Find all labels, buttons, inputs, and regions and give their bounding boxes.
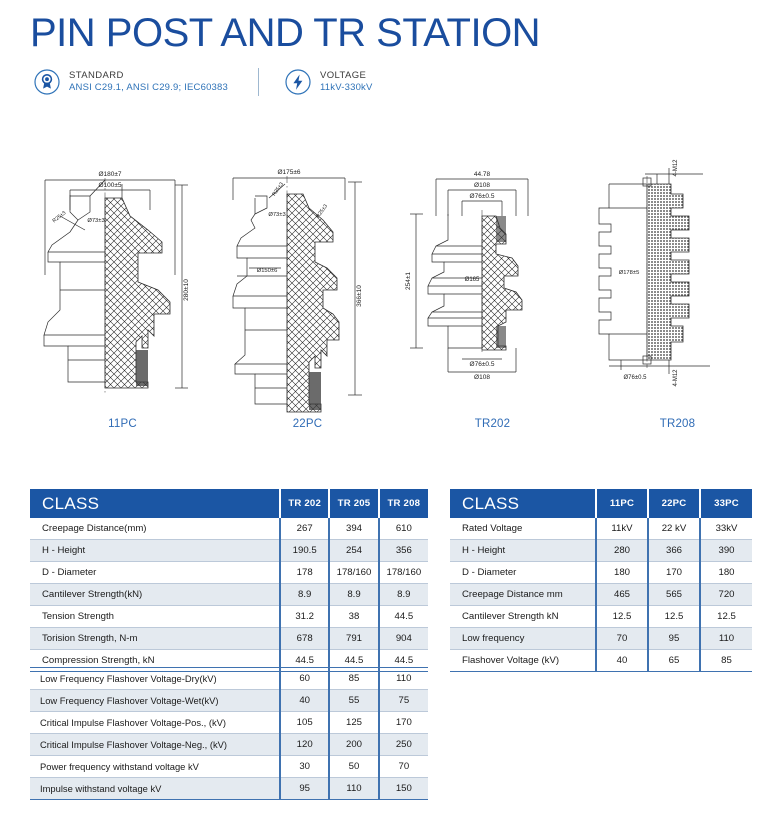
voltage-label: VOLTAGE xyxy=(320,70,373,82)
row-value: 95 xyxy=(280,778,329,800)
row-value: 178/160 xyxy=(329,562,378,584)
row-label: Cantilever Strength(kN) xyxy=(30,584,280,606)
page-title: PIN POST AND TR STATION xyxy=(30,10,752,56)
voltage-spec: VOLTAGE 11kV-330kV xyxy=(285,69,373,95)
svg-text:Ø150±6: Ø150±6 xyxy=(257,268,278,274)
table-row: Impulse withstand voltage kV 95 110 150 xyxy=(30,778,428,800)
page-header: PIN POST AND TR STATION STANDARD ANSI C2… xyxy=(30,10,752,96)
row-value: 65 xyxy=(648,650,700,672)
class-header: CLASS xyxy=(30,489,280,518)
row-label: H - Height xyxy=(450,540,596,562)
table-row: Torision Strength, N-m 678 791 904 xyxy=(30,628,428,650)
product-drawings: Ø180±7 Ø100±5 Ø73±3 R25±3 280±10 11PC xyxy=(30,150,755,450)
row-value: 12.5 xyxy=(648,606,700,628)
class-header: CLASS xyxy=(450,489,596,518)
drawing-22pc: Ø175±6 Ø73±3 Ø150±6 R25±3 R25±3 366±10 2… xyxy=(215,150,400,450)
svg-text:Ø76±0.5: Ø76±0.5 xyxy=(470,361,495,368)
column-header-tr208: TR 208 xyxy=(379,489,428,518)
svg-text:366±10: 366±10 xyxy=(356,285,363,307)
row-label: Creepage Distance(mm) xyxy=(30,518,280,540)
row-value: 390 xyxy=(700,540,752,562)
drawing-caption-tr208: TR208 xyxy=(585,418,770,430)
row-value: 12.5 xyxy=(700,606,752,628)
row-label: Tension Strength xyxy=(30,606,280,628)
table-row: D - Diameter 178 178/160 178/160 xyxy=(30,562,428,584)
row-value: 180 xyxy=(596,562,648,584)
svg-text:Ø178±5: Ø178±5 xyxy=(619,270,640,276)
row-label: H - Height xyxy=(30,540,280,562)
row-value: 40 xyxy=(596,650,648,672)
row-value: 565 xyxy=(648,584,700,606)
row-value: 125 xyxy=(329,712,378,734)
column-header-tr205: TR 205 xyxy=(329,489,378,518)
svg-text:280±10: 280±10 xyxy=(183,279,190,301)
row-value: 200 xyxy=(329,734,378,756)
row-value: 50 xyxy=(329,756,378,778)
drawing-caption-tr202: TR202 xyxy=(400,418,585,430)
row-value: 150 xyxy=(379,778,428,800)
row-label: D - Diameter xyxy=(450,562,596,584)
row-value: 791 xyxy=(329,628,378,650)
drawing-caption-22pc: 22PC xyxy=(215,418,400,430)
row-label: Critical Impulse Flashover Voltage-Neg.,… xyxy=(30,734,280,756)
table-header-row: CLASS 11PC 22PC 33PC xyxy=(450,489,752,518)
row-value: 254 xyxy=(329,540,378,562)
row-value: 720 xyxy=(700,584,752,606)
table-row: Cantilever Strength kN 12.5 12.5 12.5 xyxy=(450,606,752,628)
row-value: 60 xyxy=(280,668,329,690)
row-value: 105 xyxy=(280,712,329,734)
drawing-tr202: 44.78 Ø108 Ø76±0.5 Ø165 254±1 Ø76±0.5 Ø1… xyxy=(400,150,585,450)
row-label: Critical Impulse Flashover Voltage-Pos.,… xyxy=(30,712,280,734)
row-value: 8.9 xyxy=(379,584,428,606)
row-label: Torision Strength, N-m xyxy=(30,628,280,650)
row-value: 178/160 xyxy=(379,562,428,584)
row-value: 12.5 xyxy=(596,606,648,628)
row-value: 180 xyxy=(700,562,752,584)
drawing-tr208: 4-M12 Ø178±5 Ø76±0.5 4-M12 TR208 xyxy=(585,150,770,450)
table-row: Low frequency 70 95 110 xyxy=(450,628,752,650)
datasheet-page: PIN POST AND TR STATION STANDARD ANSI C2… xyxy=(0,0,782,831)
row-value: 170 xyxy=(648,562,700,584)
svg-text:Ø180±7: Ø180±7 xyxy=(98,171,121,178)
standard-spec: STANDARD ANSI C29.1, ANSI C29.9; IEC6038… xyxy=(34,69,228,95)
row-value: 250 xyxy=(379,734,428,756)
row-value: 110 xyxy=(700,628,752,650)
row-label: Rated Voltage xyxy=(450,518,596,540)
column-header-33pc: 33PC xyxy=(700,489,752,518)
flashover-voltage-table: Low Frequency Flashover Voltage-Dry(kV) … xyxy=(30,667,428,800)
table-row: Cantilever Strength(kN) 8.9 8.9 8.9 xyxy=(30,584,428,606)
pin-post-spec-table: CLASS 11PC 22PC 33PC Rated Voltage 11kV … xyxy=(450,489,752,672)
svg-text:254±1: 254±1 xyxy=(405,272,412,290)
row-label: D - Diameter xyxy=(30,562,280,584)
row-value: 110 xyxy=(379,668,428,690)
row-value: 8.9 xyxy=(329,584,378,606)
table-row: H - Height 280 366 390 xyxy=(450,540,752,562)
row-value: 904 xyxy=(379,628,428,650)
row-value: 33kV xyxy=(700,518,752,540)
flashover-table-body: Low Frequency Flashover Voltage-Dry(kV) … xyxy=(30,668,428,800)
row-value: 75 xyxy=(379,690,428,712)
row-value: 22 kV xyxy=(648,518,700,540)
table-row: Creepage Distance(mm) 267 394 610 xyxy=(30,518,428,540)
lightning-bolt-icon xyxy=(285,69,311,95)
column-header-tr202: TR 202 xyxy=(280,489,329,518)
table-row: Critical Impulse Flashover Voltage-Pos.,… xyxy=(30,712,428,734)
svg-text:4-M12: 4-M12 xyxy=(673,159,679,177)
tr-station-table-body: CLASS TR 202 TR 205 TR 208 Creepage Dist… xyxy=(30,489,428,672)
svg-text:Ø108: Ø108 xyxy=(474,374,490,381)
table-row: Rated Voltage 11kV 22 kV 33kV xyxy=(450,518,752,540)
svg-text:R25±3: R25±3 xyxy=(52,210,68,224)
row-label: Impulse withstand voltage kV xyxy=(30,778,280,800)
row-value: 11kV xyxy=(596,518,648,540)
table-row: H - Height 190.5 254 356 xyxy=(30,540,428,562)
row-value: 38 xyxy=(329,606,378,628)
row-value: 70 xyxy=(379,756,428,778)
pin-post-table-body: CLASS 11PC 22PC 33PC Rated Voltage 11kV … xyxy=(450,489,752,672)
column-header-22pc: 22PC xyxy=(648,489,700,518)
row-value: 178 xyxy=(280,562,329,584)
row-value: 30 xyxy=(280,756,329,778)
row-value: 366 xyxy=(648,540,700,562)
row-value: 40 xyxy=(280,690,329,712)
row-value: 44.5 xyxy=(379,606,428,628)
standard-label: STANDARD xyxy=(69,70,228,82)
table-row: Critical Impulse Flashover Voltage-Neg.,… xyxy=(30,734,428,756)
column-header-11pc: 11PC xyxy=(596,489,648,518)
table-row: D - Diameter 180 170 180 xyxy=(450,562,752,584)
svg-text:Ø165: Ø165 xyxy=(465,277,480,283)
row-value: 678 xyxy=(280,628,329,650)
table-header-row: CLASS TR 202 TR 205 TR 208 xyxy=(30,489,428,518)
row-value: 280 xyxy=(596,540,648,562)
row-value: 70 xyxy=(596,628,648,650)
spec-summary-row: STANDARD ANSI C29.1, ANSI C29.9; IEC6038… xyxy=(34,68,752,96)
table-row: Low Frequency Flashover Voltage-Wet(kV) … xyxy=(30,690,428,712)
svg-text:Ø175±6: Ø175±6 xyxy=(277,169,300,176)
row-value: 267 xyxy=(280,518,329,540)
svg-text:Ø76±0.5: Ø76±0.5 xyxy=(470,193,495,200)
drawing-caption-11pc: 11PC xyxy=(30,418,215,430)
row-value: 394 xyxy=(329,518,378,540)
svg-text:Ø100±5: Ø100±5 xyxy=(98,182,121,189)
row-label: Low frequency xyxy=(450,628,596,650)
svg-text:Ø73±3: Ø73±3 xyxy=(87,218,104,224)
row-label: Low Frequency Flashover Voltage-Dry(kV) xyxy=(30,668,280,690)
meta-divider xyxy=(258,68,259,96)
row-label: Cantilever Strength kN xyxy=(450,606,596,628)
row-value: 85 xyxy=(329,668,378,690)
row-value: 465 xyxy=(596,584,648,606)
svg-text:Ø108: Ø108 xyxy=(474,182,490,189)
svg-text:R25±3: R25±3 xyxy=(271,181,285,197)
voltage-value: 11kV-330kV xyxy=(320,82,373,94)
row-value: 110 xyxy=(329,778,378,800)
row-value: 356 xyxy=(379,540,428,562)
row-value: 170 xyxy=(379,712,428,734)
table-row: Creepage Distance mm 465 565 720 xyxy=(450,584,752,606)
row-value: 85 xyxy=(700,650,752,672)
row-value: 95 xyxy=(648,628,700,650)
row-label: Flashover Voltage (kV) xyxy=(450,650,596,672)
svg-text:4-M12: 4-M12 xyxy=(673,369,679,387)
row-label: Creepage Distance mm xyxy=(450,584,596,606)
svg-text:R25±3: R25±3 xyxy=(315,203,329,219)
award-badge-icon xyxy=(34,69,60,95)
row-value: 8.9 xyxy=(280,584,329,606)
drawing-11pc: Ø180±7 Ø100±5 Ø73±3 R25±3 280±10 11PC xyxy=(30,150,215,450)
table-row: Tension Strength 31.2 38 44.5 xyxy=(30,606,428,628)
row-value: 55 xyxy=(329,690,378,712)
standard-value: ANSI C29.1, ANSI C29.9; IEC60383 xyxy=(69,82,228,94)
row-value: 120 xyxy=(280,734,329,756)
row-label: Power frequency withstand voltage kV xyxy=(30,756,280,778)
row-value: 190.5 xyxy=(280,540,329,562)
row-value: 610 xyxy=(379,518,428,540)
tr-station-spec-table: CLASS TR 202 TR 205 TR 208 Creepage Dist… xyxy=(30,489,428,672)
svg-text:Ø73±3: Ø73±3 xyxy=(268,212,285,218)
table-row: Flashover Voltage (kV) 40 65 85 xyxy=(450,650,752,672)
svg-text:Ø76±0.5: Ø76±0.5 xyxy=(624,375,648,381)
row-label: Low Frequency Flashover Voltage-Wet(kV) xyxy=(30,690,280,712)
table-row: Low Frequency Flashover Voltage-Dry(kV) … xyxy=(30,668,428,690)
row-value: 31.2 xyxy=(280,606,329,628)
table-row: Power frequency withstand voltage kV 30 … xyxy=(30,756,428,778)
svg-text:44.78: 44.78 xyxy=(474,171,491,178)
